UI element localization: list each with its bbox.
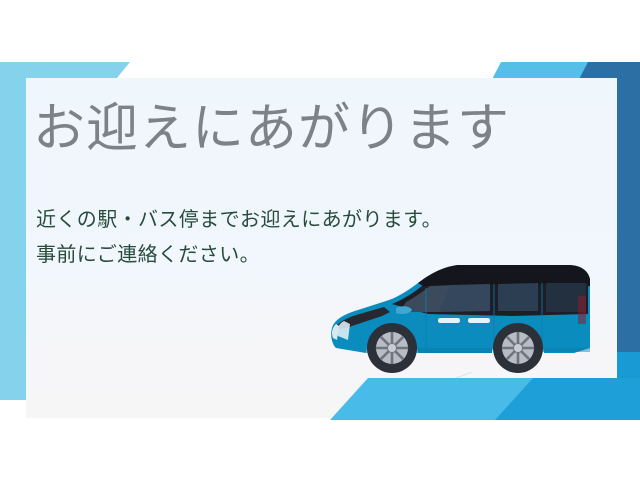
rear-wheel (493, 323, 543, 373)
page-title: お迎えにあがります (33, 98, 510, 160)
subtitle-description: 近くの駅・バス停までお迎えにあがります。 事前にご連絡ください。 (36, 203, 442, 273)
pickup-service-banner: お迎えにあがります 近くの駅・バス停までお迎えにあがります。 事前にご連絡くださ… (0, 0, 640, 480)
front-wheel (367, 323, 417, 373)
left-accent-bar (0, 62, 26, 400)
